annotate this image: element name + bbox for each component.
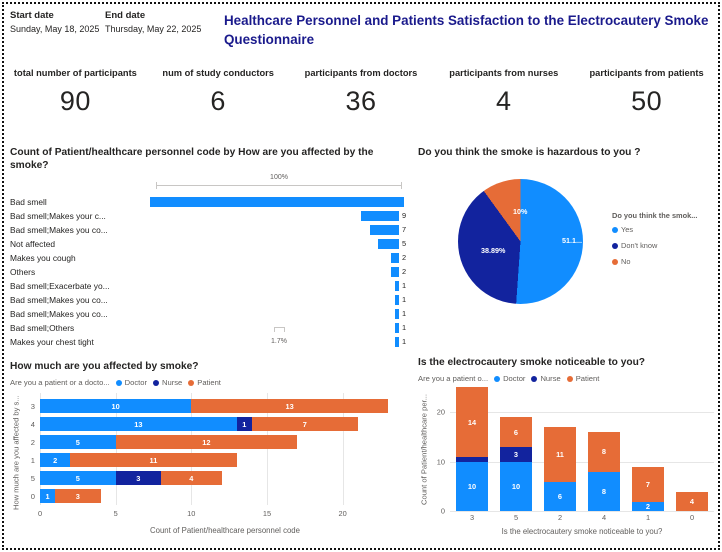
- bar-row[interactable]: Bad smell;Makes you co...1: [10, 293, 410, 307]
- chart-plot-area: 100% Bad smellBad smell;Makes your c...9…: [10, 179, 410, 347]
- segment-value-label: 5: [76, 474, 80, 483]
- segment-value-label: 4: [690, 497, 694, 506]
- dashboard-page: Start date Sunday, May 18, 2025 End date…: [0, 0, 722, 552]
- segment-value-label: 10: [468, 482, 476, 491]
- legend-label: Don't know: [621, 241, 657, 250]
- kpi-label: participants from doctors: [290, 68, 433, 78]
- bar-value-label: 1: [402, 323, 406, 333]
- column-segment-patient[interactable]: 6: [500, 417, 533, 447]
- chart-top-axis: 100%: [156, 185, 402, 186]
- kpi-study-conductors: num of study conductors 6: [147, 68, 290, 138]
- x-tick-label: 1: [626, 513, 670, 522]
- x-tick-label: 5: [494, 513, 538, 522]
- segment-value-label: 11: [556, 450, 564, 459]
- pie-slice-label-dont-know: 38.89%: [481, 246, 505, 255]
- stacked-bar-row[interactable]: 5534: [24, 469, 402, 487]
- bar-value-label: 5: [402, 239, 406, 249]
- bar-category-label: Makes your chest tight: [10, 337, 150, 347]
- bar-category-label: Bad smell;Makes you co...: [10, 295, 150, 305]
- column-segment-patient[interactable]: 14: [456, 387, 489, 456]
- chart-plot-area: 51.1... 38.89% 10% Do you think the smok…: [418, 173, 718, 333]
- segment-value-label: 12: [202, 438, 210, 447]
- bar-value-label: 1: [402, 309, 406, 319]
- kpi-value: 90: [4, 86, 147, 117]
- bar-row[interactable]: Bad smell;Exacerbate yo...1: [10, 279, 410, 293]
- bar-track: 13: [40, 487, 402, 505]
- x-tick-label: 5: [114, 509, 118, 518]
- bar-row[interactable]: Bad smell;Makes you co...7: [10, 223, 410, 237]
- bar-segment[interactable]: [378, 239, 399, 249]
- bar-track: 1317: [40, 415, 402, 433]
- bar-category-label: 0: [24, 492, 40, 501]
- chart-bottom-axis: 1.7%: [156, 319, 402, 345]
- segment-value-label: 4: [189, 474, 193, 483]
- legend-title: Are you a patient o...: [418, 374, 488, 383]
- segment-value-label: 10: [112, 402, 120, 411]
- stacked-column[interactable]: 1036: [494, 387, 538, 511]
- bar-category-label: 4: [24, 420, 40, 429]
- bar-value-label: 1: [402, 281, 406, 291]
- bar-segment[interactable]: [361, 211, 399, 221]
- bar-segment[interactable]: [150, 197, 404, 207]
- end-date-block: End date Thursday, May 22, 2025: [105, 10, 201, 34]
- bar-track: 7: [150, 223, 404, 237]
- segment-value-label: 11: [150, 456, 158, 465]
- legend-swatch-icon: [567, 376, 573, 382]
- legend-item-dont-know[interactable]: Don't know: [612, 241, 697, 250]
- bar-row[interactable]: Not affected5: [10, 237, 410, 251]
- stacked-bar-row[interactable]: 31013: [24, 397, 402, 415]
- legend-item-nurse[interactable]: Nurse: [531, 374, 560, 383]
- chart-title: Count of Patient/healthcare personnel co…: [10, 146, 410, 173]
- chart-title: How much are you affected by smoke?: [10, 360, 410, 373]
- bar-segment-patient[interactable]: 7: [252, 417, 358, 431]
- segment-value-label: 13: [286, 402, 294, 411]
- chart-plot-area: Count of Patient/healthcare per... 01020…: [418, 387, 718, 545]
- end-date-label: End date: [105, 10, 201, 21]
- column-segment-nurse[interactable]: 3: [500, 447, 533, 462]
- start-date-block: Start date Sunday, May 18, 2025: [10, 10, 99, 34]
- legend-swatch-icon: [153, 380, 159, 386]
- segment-value-label: 2: [53, 456, 57, 465]
- chart-legend: Do you think the smok... Yes Don't know …: [612, 211, 697, 273]
- x-axis-title: Count of Patient/healthcare personnel co…: [40, 526, 410, 535]
- gridline: [450, 511, 714, 512]
- chart-legend: Are you a patient o... Doctor Nurse Pati…: [418, 374, 718, 383]
- x-tick-label: 0: [670, 513, 714, 522]
- kpi-value: 6: [147, 86, 290, 117]
- legend-label: Yes: [621, 225, 633, 234]
- bar-segment-doctor[interactable]: 5: [40, 435, 116, 449]
- chart-smoke-hazardous[interactable]: Do you think the smoke is hazardous to y…: [418, 146, 718, 346]
- chart-plot-area: How much are you affected by s... 310134…: [10, 393, 410, 545]
- stacked-column[interactable]: 1014: [450, 387, 494, 511]
- bar-segment-doctor[interactable]: 13: [40, 417, 237, 431]
- bar-segment-patient[interactable]: 4: [161, 471, 222, 485]
- bar-row[interactable]: Makes you cough2: [10, 251, 410, 265]
- chart-legend: Are you a patient or a docto... Doctor N…: [10, 378, 410, 387]
- segment-value-label: 1: [46, 492, 50, 501]
- segment-value-label: 14: [468, 418, 476, 427]
- x-tick-label: 4: [582, 513, 626, 522]
- column-segment-patient[interactable]: 7: [632, 467, 665, 502]
- kpi-total-participants: total number of participants 90: [4, 68, 147, 138]
- bar-segment-nurse[interactable]: 3: [116, 471, 161, 485]
- x-tick-label: 0: [38, 509, 42, 518]
- bar-segment[interactable]: [370, 225, 399, 235]
- legend-swatch-icon: [116, 380, 122, 386]
- x-axis-title: Is the electrocautery smoke noticeable t…: [450, 527, 714, 536]
- y-axis-ticks: 01020: [430, 387, 448, 511]
- bar-segment[interactable]: [391, 267, 399, 277]
- chart-affected-by-smoke[interactable]: Count of Patient/healthcare personnel co…: [10, 146, 410, 358]
- chart-title: Do you think the smoke is hazardous to y…: [418, 146, 718, 159]
- end-date-value: Thursday, May 22, 2025: [105, 24, 201, 34]
- bar-segment[interactable]: [395, 295, 399, 305]
- segment-value-label: 10: [512, 482, 520, 491]
- legend-swatch-icon: [612, 259, 618, 265]
- segment-value-label: 1: [242, 420, 246, 429]
- legend-item-doctor[interactable]: Doctor: [494, 374, 525, 383]
- bar-segment-doctor[interactable]: 1: [40, 489, 55, 503]
- segment-value-label: 3: [76, 492, 80, 501]
- bar-row[interactable]: Bad smell: [10, 195, 410, 209]
- legend-swatch-icon: [531, 376, 537, 382]
- segment-value-label: 8: [602, 447, 606, 456]
- bar-category-label: 3: [24, 402, 40, 411]
- pie-slice-label-no: 10%: [513, 207, 527, 216]
- x-tick-label: 10: [187, 509, 195, 518]
- bar-segment[interactable]: [395, 281, 399, 291]
- chart-smoke-noticeable[interactable]: Is the electrocautery smoke noticeable t…: [418, 356, 718, 548]
- bar-segment[interactable]: [391, 253, 399, 263]
- bar-category-label: Bad smell;Exacerbate yo...: [10, 281, 150, 291]
- bar-value-label: 1: [402, 295, 406, 305]
- column-stack: 1036: [500, 417, 533, 511]
- x-tick-label: 20: [338, 509, 346, 518]
- bar-track: [150, 195, 404, 209]
- legend-swatch-icon: [612, 243, 618, 249]
- kpi-participants-patients: participants from patients 50: [575, 68, 718, 138]
- stacked-bar-row[interactable]: 1211: [24, 451, 402, 469]
- legend-item-patient[interactable]: Patient: [567, 374, 600, 383]
- segment-value-label: 7: [303, 420, 307, 429]
- bar-track: 2: [150, 265, 404, 279]
- stacked-bar-row[interactable]: 41317: [24, 415, 402, 433]
- dashboard-title: Healthcare Personnel and Patients Satisf…: [224, 11, 714, 50]
- bar-value-label: 9: [402, 211, 406, 221]
- stacked-bar-row[interactable]: 013: [24, 487, 402, 505]
- kpi-label: participants from patients: [575, 68, 718, 78]
- stacked-column[interactable]: 27: [626, 387, 670, 511]
- kpi-value: 4: [432, 86, 575, 117]
- y-tick-label: 0: [441, 507, 445, 516]
- stacked-column[interactable]: 4: [670, 387, 714, 511]
- bar-rows: 3101341317251212115534013: [24, 397, 402, 505]
- bar-category-label: Not affected: [10, 239, 150, 249]
- bar-track: 211: [40, 451, 402, 469]
- stacked-column[interactable]: 611: [538, 387, 582, 511]
- kpi-label: participants from nurses: [432, 68, 575, 78]
- column-stack: 4: [676, 492, 709, 512]
- kpi-value: 36: [290, 86, 433, 117]
- start-date-label: Start date: [10, 10, 99, 21]
- bar-track: 1: [150, 279, 404, 293]
- legend-label: Nurse: [162, 378, 182, 387]
- column-segment-doctor[interactable]: 2: [632, 502, 665, 512]
- bar-segment-doctor[interactable]: 10: [40, 399, 191, 413]
- column-group: 1014103661188274: [450, 387, 714, 511]
- legend-label: Nurse: [540, 374, 560, 383]
- kpi-participants-doctors: participants from doctors 36: [290, 68, 433, 138]
- bar-track: 1013: [40, 397, 402, 415]
- kpi-value: 50: [575, 86, 718, 117]
- segment-value-label: 3: [514, 450, 518, 459]
- bar-segment-doctor[interactable]: 2: [40, 453, 70, 467]
- stacked-bar-row[interactable]: 2512: [24, 433, 402, 451]
- column-segment-patient[interactable]: 8: [588, 432, 621, 472]
- legend-item-no[interactable]: No: [612, 257, 697, 266]
- legend-title: Are you a patient or a docto...: [10, 378, 110, 387]
- kpi-participants-nurses: participants from nurses 4: [432, 68, 575, 138]
- chart-title: Is the electrocautery smoke noticeable t…: [418, 356, 718, 369]
- x-tick-label: 15: [263, 509, 271, 518]
- legend-item-doctor[interactable]: Doctor: [116, 378, 147, 387]
- legend-label: Doctor: [503, 374, 525, 383]
- bar-category-label: Others: [10, 267, 150, 277]
- bar-track: 5: [150, 237, 404, 251]
- legend-label: Doctor: [125, 378, 147, 387]
- stacked-column[interactable]: 88: [582, 387, 626, 511]
- y-axis-title: Count of Patient/healthcare per...: [418, 387, 430, 511]
- bar-category-label: Bad smell;Others: [10, 323, 150, 333]
- bar-segment-patient[interactable]: 12: [116, 435, 298, 449]
- legend-swatch-icon: [494, 376, 500, 382]
- bar-track: 1: [150, 293, 404, 307]
- column-stack: 611: [544, 427, 577, 511]
- dashboard-header: Start date Sunday, May 18, 2025 End date…: [0, 0, 722, 62]
- x-tick-label: 3: [450, 513, 494, 522]
- legend-swatch-icon: [188, 380, 194, 386]
- legend-item-yes[interactable]: Yes: [612, 225, 697, 234]
- bar-track: 2: [150, 251, 404, 265]
- bar-category-label: 1: [24, 456, 40, 465]
- column-stack: 27: [632, 467, 665, 512]
- kpi-label: total number of participants: [4, 68, 147, 78]
- bar-value-label: 2: [402, 253, 406, 263]
- column-segment-patient[interactable]: 11: [544, 427, 577, 482]
- column-segment-doctor[interactable]: 10: [456, 462, 489, 512]
- segment-value-label: 6: [514, 428, 518, 437]
- segment-value-label: 2: [646, 502, 650, 511]
- bar-value-label: 7: [402, 225, 406, 235]
- column-segment-patient[interactable]: 4: [676, 492, 709, 512]
- legend-swatch-icon: [612, 227, 618, 233]
- bar-track: 512: [40, 433, 402, 451]
- bar-row[interactable]: Bad smell;Makes your c...9: [10, 209, 410, 223]
- legend-label: Patient: [576, 374, 600, 383]
- bar-segment-patient[interactable]: 13: [191, 399, 388, 413]
- axis-min-label: 1.7%: [156, 338, 402, 345]
- column-segment-doctor[interactable]: 6: [544, 482, 577, 512]
- kpi-row: total number of participants 90 num of s…: [4, 68, 718, 138]
- column-stack: 1014: [456, 387, 489, 511]
- axis-max-label: 100%: [156, 174, 402, 181]
- plot-area: 1014103661188274: [450, 387, 714, 511]
- bar-category-label: 2: [24, 438, 40, 447]
- pie-slice-label-yes: 51.1...: [562, 236, 582, 245]
- y-tick-label: 20: [437, 408, 445, 417]
- bar-category-label: Bad smell: [10, 197, 150, 207]
- bar-category-label: Makes you cough: [10, 253, 150, 263]
- segment-value-label: 8: [602, 487, 606, 496]
- bar-value-label: 2: [402, 267, 406, 277]
- x-axis-ticks: 352410: [450, 513, 714, 522]
- legend-item-patient[interactable]: Patient: [188, 378, 221, 387]
- legend-item-nurse[interactable]: Nurse: [153, 378, 182, 387]
- legend-label: No: [621, 257, 630, 266]
- bar-category-label: Bad smell;Makes you co...: [10, 225, 150, 235]
- column-stack: 88: [588, 432, 621, 511]
- bar-segment-patient[interactable]: 11: [70, 453, 236, 467]
- segment-value-label: 13: [134, 420, 142, 429]
- bar-segment-patient[interactable]: 3: [55, 489, 100, 503]
- axis-line: [156, 185, 402, 186]
- segment-value-label: 3: [136, 474, 140, 483]
- bar-segment[interactable]: [395, 309, 399, 319]
- x-tick-label: 2: [538, 513, 582, 522]
- bar-category-label: 5: [24, 474, 40, 483]
- segment-value-label: 5: [76, 438, 80, 447]
- bar-row[interactable]: Others2: [10, 265, 410, 279]
- column-segment-doctor[interactable]: 8: [588, 472, 621, 512]
- start-date-value: Sunday, May 18, 2025: [10, 24, 99, 34]
- legend-title: Do you think the smok...: [612, 211, 697, 220]
- bar-category-label: Bad smell;Makes your c...: [10, 211, 150, 221]
- bar-segment-nurse[interactable]: 1: [237, 417, 252, 431]
- segment-value-label: 6: [558, 492, 562, 501]
- bar-segment-doctor[interactable]: 5: [40, 471, 116, 485]
- axis-min-tick: [274, 327, 285, 332]
- segment-value-label: 7: [646, 480, 650, 489]
- y-axis-title: How much are you affected by s...: [10, 397, 22, 509]
- bar-track: 534: [40, 469, 402, 487]
- chart-how-much-affected[interactable]: How much are you affected by smoke? Are …: [10, 360, 410, 548]
- column-segment-doctor[interactable]: 10: [500, 462, 533, 512]
- y-tick-label: 10: [437, 457, 445, 466]
- bar-value-label: 1: [402, 337, 406, 347]
- bar-category-label: Bad smell;Makes you co...: [10, 309, 150, 319]
- legend-label: Patient: [197, 378, 221, 387]
- kpi-label: num of study conductors: [147, 68, 290, 78]
- bar-track: 9: [150, 209, 404, 223]
